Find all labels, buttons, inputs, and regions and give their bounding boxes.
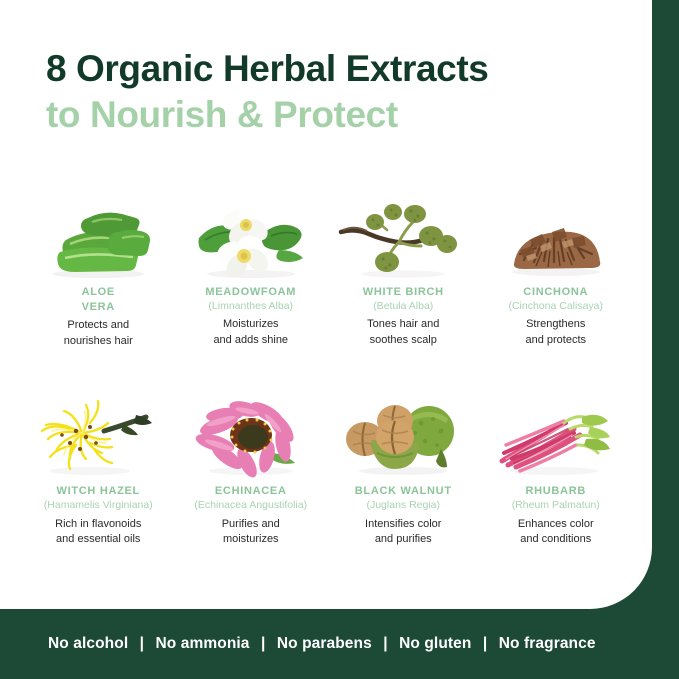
claim-separator: |: [476, 635, 494, 652]
herb-desc-line-1: Intensifies color: [365, 518, 441, 530]
herb-latin-name: (Juglans Regia): [366, 499, 440, 513]
herb-desc-line-2: and essential oils: [56, 533, 140, 545]
herb-desc-line-1: Rich in flavonoids: [55, 518, 141, 530]
herb-description: Protects and nourishes hair: [64, 318, 133, 349]
claim-no-fragrance: No fragrance: [499, 635, 596, 652]
herb-latin-name: (Hamamelis Virginiana): [44, 499, 153, 513]
aloe-vera-icon: [32, 188, 164, 280]
herb-desc-line-1: Protects and: [67, 319, 129, 331]
claim-no-parabens: No parabens: [277, 635, 372, 652]
herb-description: Tones hair and soothes scalp: [367, 317, 439, 348]
claim-separator: |: [133, 635, 151, 652]
herb-desc-line-2: moisturizes: [223, 533, 279, 545]
herb-name: RHUBARB: [525, 484, 586, 499]
black-walnut-icon: [337, 387, 469, 479]
claim-no-gluten: No gluten: [399, 635, 471, 652]
herb-desc-line-2: soothes scalp: [370, 334, 437, 346]
herb-desc-line-1: Enhances color: [518, 518, 594, 530]
claim-separator: |: [376, 635, 394, 652]
herb-card-cinchona: CINCHONA (Cinchona Calisaya) Strengthens…: [480, 188, 633, 349]
herb-latin-name: (Limnanthes Alba): [208, 300, 293, 314]
white-birch-branch-icon: [337, 188, 469, 280]
herb-card-meadowfoam: MEADOWFOAM (Limnanthes Alba) Moisturizes…: [175, 188, 328, 349]
herb-card-aloe-vera: ALOE VERA Protects and nourishes hair: [22, 188, 175, 349]
herb-desc-line-2: and conditions: [520, 533, 591, 545]
cinchona-bark-icon: [490, 188, 622, 280]
page-title: 8 Organic Herbal Extracts to Nourish & P…: [46, 46, 626, 138]
rhubarb-stalks-icon: [490, 387, 622, 479]
herb-name: ECHINACEA: [215, 484, 287, 499]
herb-name: MEADOWFOAM: [205, 285, 296, 300]
herb-name-line-1: ALOE: [82, 286, 115, 298]
footer-claims-bar: No alcohol | No ammonia | No parabens | …: [0, 609, 679, 679]
title-line-1: 8 Organic Herbal Extracts: [46, 46, 626, 92]
herb-grid: ALOE VERA Protects and nourishes hair: [22, 188, 632, 548]
claim-no-alcohol: No alcohol: [48, 635, 128, 652]
title-line-2: to Nourish & Protect: [46, 92, 626, 138]
herb-latin-name: (Echinacea Angustifolia): [194, 499, 307, 513]
herb-card-black-walnut: BLACK WALNUT (Juglans Regia) Intensifies…: [327, 387, 480, 548]
herb-description: Enhances color and conditions: [518, 517, 594, 548]
claim-no-ammonia: No ammonia: [156, 635, 250, 652]
herb-name: CINCHONA: [523, 285, 588, 300]
herb-name: WHITE BIRCH: [363, 285, 444, 300]
herb-name: ALOE VERA: [82, 285, 115, 314]
claim-separator: |: [254, 635, 272, 652]
herb-latin-name: (Cinchona Calisaya): [508, 300, 603, 314]
herb-name: BLACK WALNUT: [355, 484, 452, 499]
poster: 8 Organic Herbal Extracts to Nourish & P…: [0, 0, 679, 679]
herb-description: Strengthens and protects: [525, 317, 586, 348]
herb-desc-line-2: and adds shine: [213, 334, 288, 346]
herb-desc-line-1: Purifies and: [222, 518, 280, 530]
meadowfoam-flower-icon: [185, 188, 317, 280]
herb-desc-line-1: Moisturizes: [223, 318, 279, 330]
herb-desc-line-2: and purifies: [375, 533, 432, 545]
herb-latin-name: (Rheum Palmatun): [512, 499, 600, 513]
herb-card-echinacea: ECHINACEA (Echinacea Angustifolia) Purif…: [175, 387, 328, 548]
witch-hazel-flower-icon: [32, 387, 164, 479]
herb-desc-line-2: nourishes hair: [64, 335, 133, 347]
herb-name: WITCH HAZEL: [57, 484, 140, 499]
herb-latin-name: (Betula Alba): [373, 300, 433, 314]
herb-description: Moisturizes and adds shine: [213, 317, 288, 348]
herb-description: Intensifies color and purifies: [365, 517, 441, 548]
herb-description: Rich in flavonoids and essential oils: [55, 517, 141, 548]
herb-name-line-2: VERA: [82, 301, 115, 313]
herb-card-rhubarb: RHUBARB (Rheum Palmatun) Enhances color …: [480, 387, 633, 548]
herb-description: Purifies and moisturizes: [222, 517, 280, 548]
herb-desc-line-1: Tones hair and: [367, 318, 439, 330]
herb-desc-line-2: and protects: [525, 334, 586, 346]
footer-claims-text: No alcohol | No ammonia | No parabens | …: [48, 635, 596, 653]
herb-card-white-birch: WHITE BIRCH (Betula Alba) Tones hair and…: [327, 188, 480, 349]
herb-desc-line-1: Strengthens: [526, 318, 585, 330]
herb-card-witch-hazel: WITCH HAZEL (Hamamelis Virginiana) Rich …: [22, 387, 175, 548]
echinacea-flower-icon: [185, 387, 317, 479]
